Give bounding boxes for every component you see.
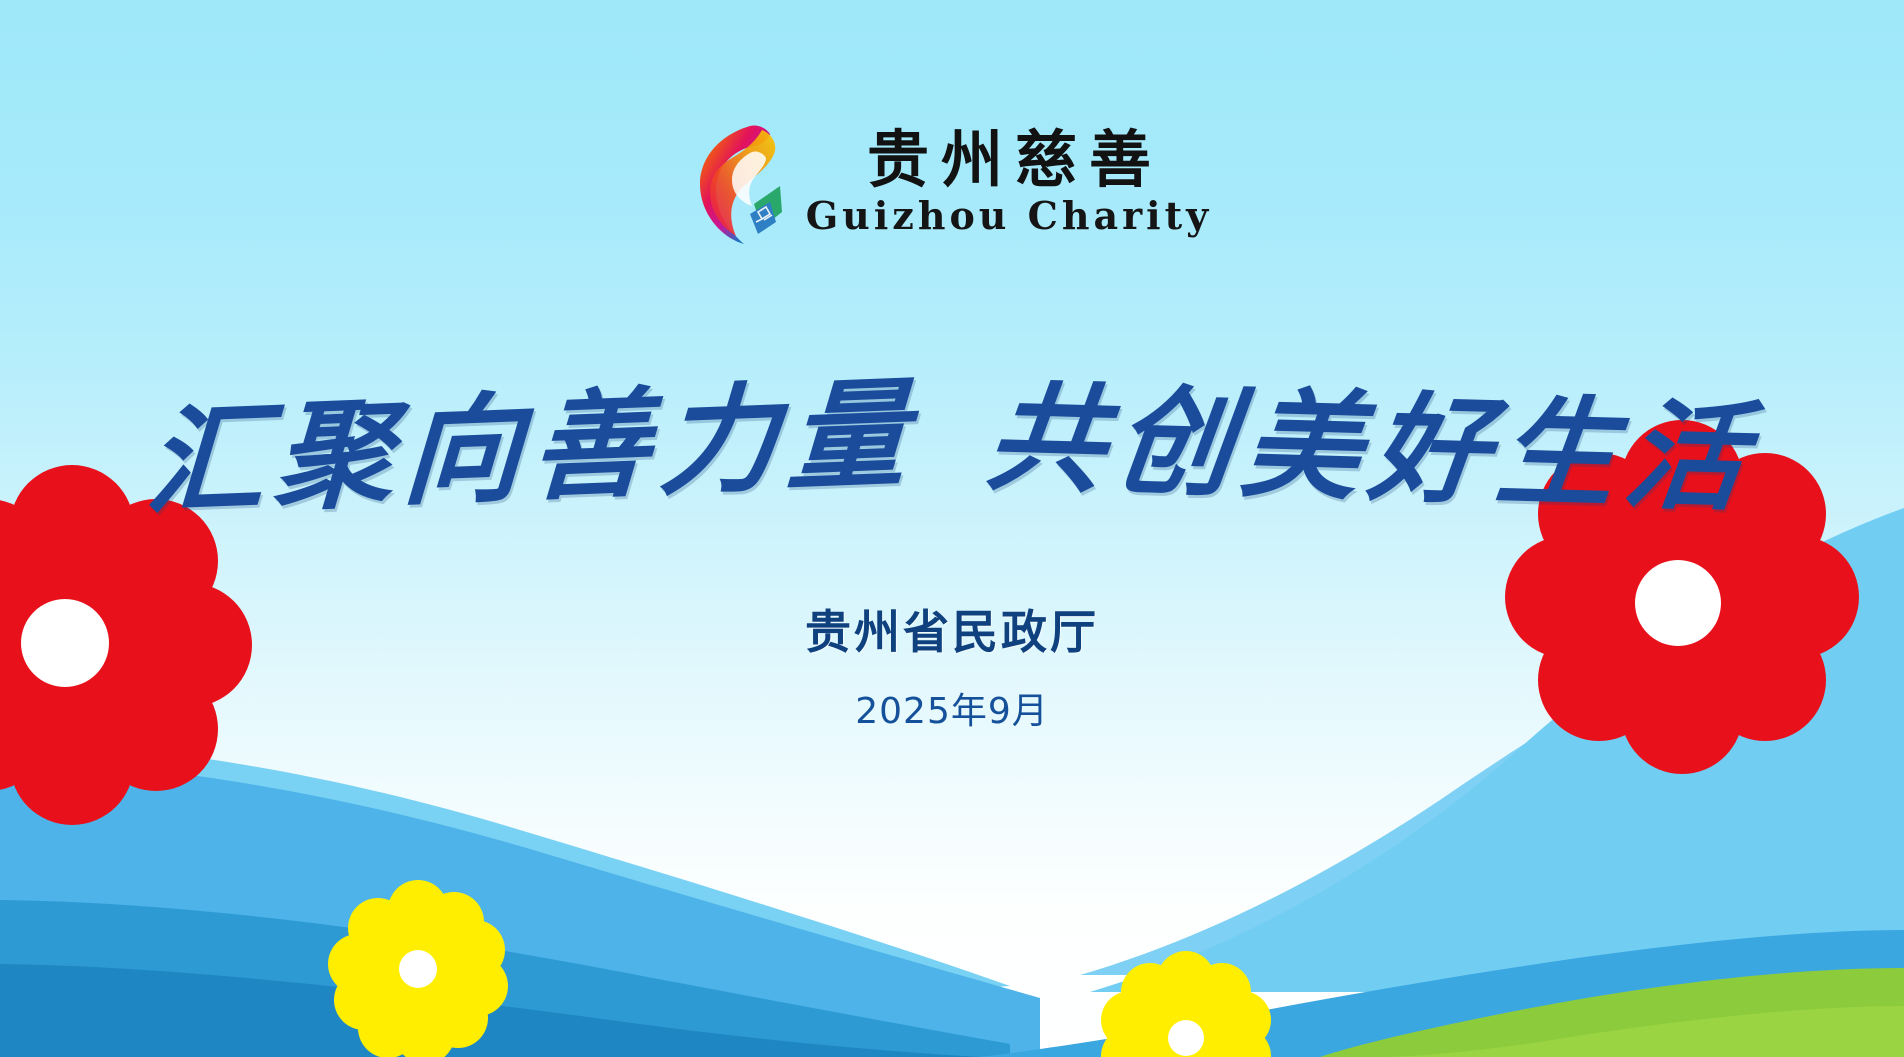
org-name-en: Guizhou Charity	[806, 197, 1213, 235]
poster-cover: 贵州慈善 Guizhou Charity 汇聚向善力量 共创美好生活 贵州省民政…	[0, 0, 1904, 1057]
logo-block: 贵州慈善 Guizhou Charity	[0, 118, 1904, 246]
issuer-name: 贵州省民政厅	[805, 596, 1099, 662]
org-name-cn: 贵州慈善	[855, 129, 1163, 191]
logo-text: 贵州慈善 Guizhou Charity	[806, 129, 1213, 235]
issuer-block: 贵州省民政厅 2025年9月	[0, 596, 1904, 734]
guizhou-charity-flame-heart-logo	[692, 118, 784, 246]
issuer-date: 2025年9月	[855, 682, 1049, 734]
